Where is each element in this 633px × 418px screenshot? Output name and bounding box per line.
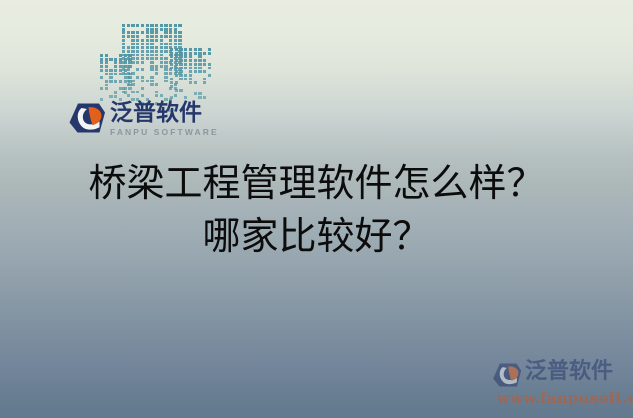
mosaic-cell [155,83,158,86]
mosaic-cell [160,28,163,31]
mosaic-cell [155,46,158,49]
mosaic-cell [160,43,163,46]
mosaic-cell [170,96,173,99]
mosaic-cell [160,39,163,42]
mosaic-cell [179,70,182,73]
mosaic-cell [155,54,158,57]
mosaic-cell [114,65,117,68]
mosaic-cell [203,70,206,73]
mosaic-cell [189,81,192,84]
mosaic-cell [127,57,130,60]
mosaic-cell [194,59,197,62]
mosaic-cell [150,80,153,83]
mosaic-cell [136,76,139,79]
mosaic-cell [175,81,178,84]
mosaic-cell [141,46,144,49]
mosaic-cell [114,91,117,94]
mosaic-cell [136,35,139,38]
mosaic-cell [170,85,173,88]
mosaic-cell [136,68,139,71]
mosaic-cell [122,43,125,46]
mosaic-cell [203,63,206,66]
mosaic-cell [136,46,139,49]
mosaic-cell [150,54,153,57]
mosaic-cell [127,83,130,86]
mosaic-cell [169,72,172,75]
brand-logo: 泛普软件 FANPU SOFTWARE [68,100,218,146]
mosaic-cell [155,50,158,53]
mosaic-cell [164,76,167,79]
mosaic-cell [198,52,201,55]
mosaic-cell [146,39,149,42]
mosaic-cell [131,72,134,75]
mosaic-cell [150,31,153,34]
mosaic-cell [189,67,192,70]
mosaic-cell [100,69,103,72]
mosaic-cell [175,55,178,58]
mosaic-cell [175,70,178,73]
mosaic-cell [136,61,139,64]
mosaic-cell [122,57,125,60]
mosaic-cell [164,50,167,53]
mosaic-cell [127,24,130,27]
mosaic-cell [122,68,125,71]
mosaic-cell [184,74,187,77]
mosaic-cell [169,28,172,31]
mosaic-cell [164,43,167,46]
mosaic-cell [131,61,134,64]
mosaic-cell [194,70,197,73]
mosaic-cell [174,31,177,34]
mosaic-cell [203,78,206,81]
mosaic-cell [150,46,153,49]
mosaic-cell [164,57,167,60]
mosaic-cell [141,50,144,53]
mosaic-cell [203,52,206,55]
mosaic-cell [150,57,153,60]
mosaic-cell [169,35,172,38]
mosaic-cell [141,43,144,46]
mosaic-cell [105,65,108,68]
mosaic-cell [127,94,130,97]
mosaic-cell [105,54,108,57]
mosaic-cell [174,94,177,97]
mosaic-cell [208,67,211,70]
mosaic-cell [146,46,149,49]
mosaic-cell [160,50,163,53]
page-title-line-2: 哪家比较好？ [0,210,633,263]
mosaic-cell [131,80,134,83]
mosaic-cell [179,59,182,62]
mosaic-cell [141,57,144,60]
mosaic-cell [127,76,130,79]
mosaic-cell [146,43,149,46]
mosaic-cell [122,35,125,38]
mosaic-cell [169,43,172,46]
page-title: 桥梁工程管理软件怎么样？ 哪家比较好？ [0,157,633,263]
mosaic-cell [127,65,130,68]
mosaic-cell [155,35,158,38]
mosaic-cell [141,68,144,71]
mosaic-cell [146,28,149,31]
mosaic-cell [178,31,181,34]
mosaic-cell [109,69,112,72]
mosaic-cell [150,83,153,86]
mosaic-cell [109,76,112,79]
mosaic-cell [100,65,103,68]
mosaic-cell [155,91,158,94]
mosaic-cell [122,54,125,57]
watermark-brand-name-cn: 泛普软件 [525,359,613,385]
mosaic-cell [146,35,149,38]
mosaic-cell [198,48,201,51]
mosaic-cell [179,89,182,92]
mosaic-cell [100,61,103,64]
mosaic-cell [127,31,130,34]
mosaic-cell [178,24,181,27]
mosaic-cell [150,35,153,38]
mosaic-cell [109,58,112,61]
mosaic-cell [208,52,211,55]
mosaic-cell [179,74,182,77]
mosaic-cell [131,31,134,34]
mosaic-cell [164,46,167,49]
mosaic-cell [131,35,134,38]
mosaic-cell [164,72,167,75]
mosaic-cell [175,89,178,92]
mosaic-cell [136,43,139,46]
mosaic-cell [170,55,173,58]
mosaic-cell [189,48,192,51]
mosaic-cell [131,50,134,53]
mosaic-cell [100,76,103,79]
mosaic-cell [155,57,158,60]
mosaic-cell [136,54,139,57]
mosaic-cell [114,95,117,98]
mosaic-cell [122,72,125,75]
mosaic-cell [150,24,153,27]
mosaic-cell [150,65,153,68]
mosaic-cell [175,67,178,70]
mosaic-cell [208,63,211,66]
mosaic-cell [105,69,108,72]
mosaic-cell [136,50,139,53]
mosaic-cell [179,48,182,51]
mosaic-cell [155,72,158,75]
mosaic-cell [189,70,192,73]
mosaic-cell [155,68,158,71]
mosaic-cell [194,92,197,95]
watermark-fanpu-hexagon-swoosh-logo-icon [492,362,522,388]
mosaic-cell [170,48,173,51]
mosaic-cell [208,48,211,51]
mosaic-cell [179,52,182,55]
mosaic-cell [141,39,144,42]
mosaic-cell [189,52,192,55]
mosaic-cell [164,28,167,31]
mosaic-cell [164,24,167,27]
mosaic-cell [184,48,187,51]
mosaic-cell [122,31,125,34]
mosaic-cell [198,55,201,58]
mosaic-cell [174,24,177,27]
mosaic-cell [141,87,144,90]
mosaic-cell [174,43,177,46]
mosaic-cell [150,50,153,53]
mosaic-cell [184,63,187,66]
mosaic-cell [189,55,192,58]
mosaic-cell [169,31,172,34]
mosaic-cell [160,54,163,57]
mosaic-cell [179,67,182,70]
mosaic-cell [127,54,130,57]
mosaic-cell [164,65,167,68]
watermark-url: www.fanpusoft.com [497,389,633,407]
mosaic-cell [155,31,158,34]
mosaic-cell [122,61,125,64]
mosaic-cell [127,35,130,38]
mosaic-cell [141,76,144,79]
mosaic-cell [170,78,173,81]
mosaic-cell [184,78,187,81]
mosaic-cell [100,58,103,61]
mosaic-cell [141,61,144,64]
mosaic-cell [105,61,108,64]
mosaic-cell [175,48,178,51]
mosaic-cell [146,57,149,60]
mosaic-cell [150,43,153,46]
mosaic-cell [208,74,211,77]
mosaic-cell [136,31,139,34]
mosaic-cell [189,74,192,77]
mosaic-cell [105,80,108,83]
mosaic-cell [122,91,125,94]
mosaic-cell [194,67,197,70]
mosaic-cell [122,50,125,53]
mosaic-cell [164,80,167,83]
mosaic-cell [141,31,144,34]
mosaic-cell [169,39,172,42]
mosaic-cell [170,63,173,66]
mosaic-cell [131,43,134,46]
mosaic-cell [194,63,197,66]
mosaic-cell [198,92,201,95]
mosaic-cell [160,94,163,97]
mosaic-cell [119,80,122,83]
mosaic-cell [150,39,153,42]
mosaic-cell [122,28,125,31]
mosaic-cell [170,81,173,84]
mosaic-cell [155,28,158,31]
mosaic-cell [150,28,153,31]
mosaic-cell [114,73,117,76]
mosaic-cell [136,24,139,27]
mosaic-cell [150,76,153,79]
mosaic-cell [127,46,130,49]
brand-name-en: FANPU SOFTWARE [110,127,218,138]
mosaic-cell [198,70,201,73]
mosaic-cell [109,73,112,76]
mosaic-cell [175,74,178,77]
mosaic-cell [122,46,125,49]
mosaic-cell [174,35,177,38]
mosaic-cell [179,63,182,66]
mosaic-cell [155,94,158,97]
mosaic-cell [174,28,177,31]
mosaic-cell [122,87,125,90]
mosaic-cell [160,46,163,49]
watermark: 泛普软件 www.fanpusoft.com [492,358,633,410]
mosaic-cell [114,58,117,61]
mosaic-cell [122,65,125,68]
fanpu-hexagon-swoosh-logo-icon [68,102,106,134]
mosaic-cell [114,69,117,72]
mosaic-cell [122,24,125,27]
mosaic-cell [169,24,172,27]
brand-logo-text: 泛普软件 FANPU SOFTWARE [110,100,218,138]
mosaic-cell [164,61,167,64]
mosaic-cell [179,78,182,81]
mosaic-cell [164,68,167,71]
mosaic-cell [198,67,201,70]
mosaic-cell [105,87,108,90]
mosaic-cell [127,72,130,75]
mosaic-cell [100,54,103,57]
mosaic-cell [105,84,108,87]
mosaic-cell [122,39,125,42]
mosaic-cell [141,24,144,27]
mosaic-cell [198,59,201,62]
pixel-skyline-graphic [96,14,200,100]
mosaic-cell [146,50,149,53]
mosaic-cell [178,43,181,46]
mosaic-cell [203,81,206,84]
mosaic-cell [175,52,178,55]
brand-name-cn: 泛普软件 [110,100,218,126]
mosaic-cell [131,54,134,57]
mosaic-cell [109,80,112,83]
mosaic-cell [105,73,108,76]
mosaic-cell [198,96,201,99]
mosaic-cell [164,35,167,38]
mosaic-cell [164,31,167,34]
mosaic-cell [131,24,134,27]
mosaic-cell [155,24,158,27]
mosaic-cell [131,83,134,86]
mosaic-cell [174,39,177,42]
mosaic-cell [127,68,130,71]
mosaic-cell [131,39,134,42]
promo-banner: 泛普软件 FANPU SOFTWARE 桥梁工程管理软件怎么样？ 哪家比较好？ … [0,0,633,418]
mosaic-cell [160,24,163,27]
mosaic-cell [175,63,178,66]
mosaic-cell [155,39,158,42]
mosaic-cell [136,57,139,60]
mosaic-cell [131,46,134,49]
mosaic-cell [170,67,173,70]
mosaic-cell [160,57,163,60]
mosaic-cell [141,94,144,97]
mosaic-cell [203,59,206,62]
mosaic-cell [146,80,149,83]
mosaic-cell [178,39,181,42]
mosaic-cell [189,63,192,66]
mosaic-cell [175,59,178,62]
mosaic-cell [141,80,144,83]
mosaic-cell [146,31,149,34]
mosaic-cell [160,61,163,64]
mosaic-cell [189,59,192,62]
mosaic-cell [127,80,130,83]
mosaic-cell [189,78,192,81]
mosaic-cell [184,59,187,62]
mosaic-cell [136,39,139,42]
mosaic-cell [194,48,197,51]
mosaic-cell [160,35,163,38]
mosaic-cell [141,54,144,57]
mosaic-cell [136,91,139,94]
mosaic-cell [100,87,103,90]
mosaic-cell [155,65,158,68]
mosaic-cell [150,61,153,64]
page-title-line-1: 桥梁工程管理软件怎么样？ [0,157,633,210]
mosaic-cell [170,52,173,55]
mosaic-cell [146,24,149,27]
mosaic-cell [179,55,182,58]
mosaic-cell [194,52,197,55]
mosaic-cell [160,65,163,68]
mosaic-cell [178,35,181,38]
mosaic-cell [203,96,206,99]
mosaic-cell [170,59,173,62]
mosaic-cell [127,50,130,53]
mosaic-cell [184,67,187,70]
mosaic-cell [105,58,108,61]
mosaic-cell [146,54,149,57]
mosaic-cell [194,81,197,84]
mosaic-cell [131,91,134,94]
mosaic-cell [109,95,112,98]
mosaic-cell [184,52,187,55]
mosaic-cell [198,63,201,66]
mosaic-cell [184,55,187,58]
mosaic-cell [114,80,117,83]
mosaic-cell [131,57,134,60]
mosaic-cell [114,61,117,64]
mosaic-cell [184,96,187,99]
mosaic-cell [150,68,153,71]
